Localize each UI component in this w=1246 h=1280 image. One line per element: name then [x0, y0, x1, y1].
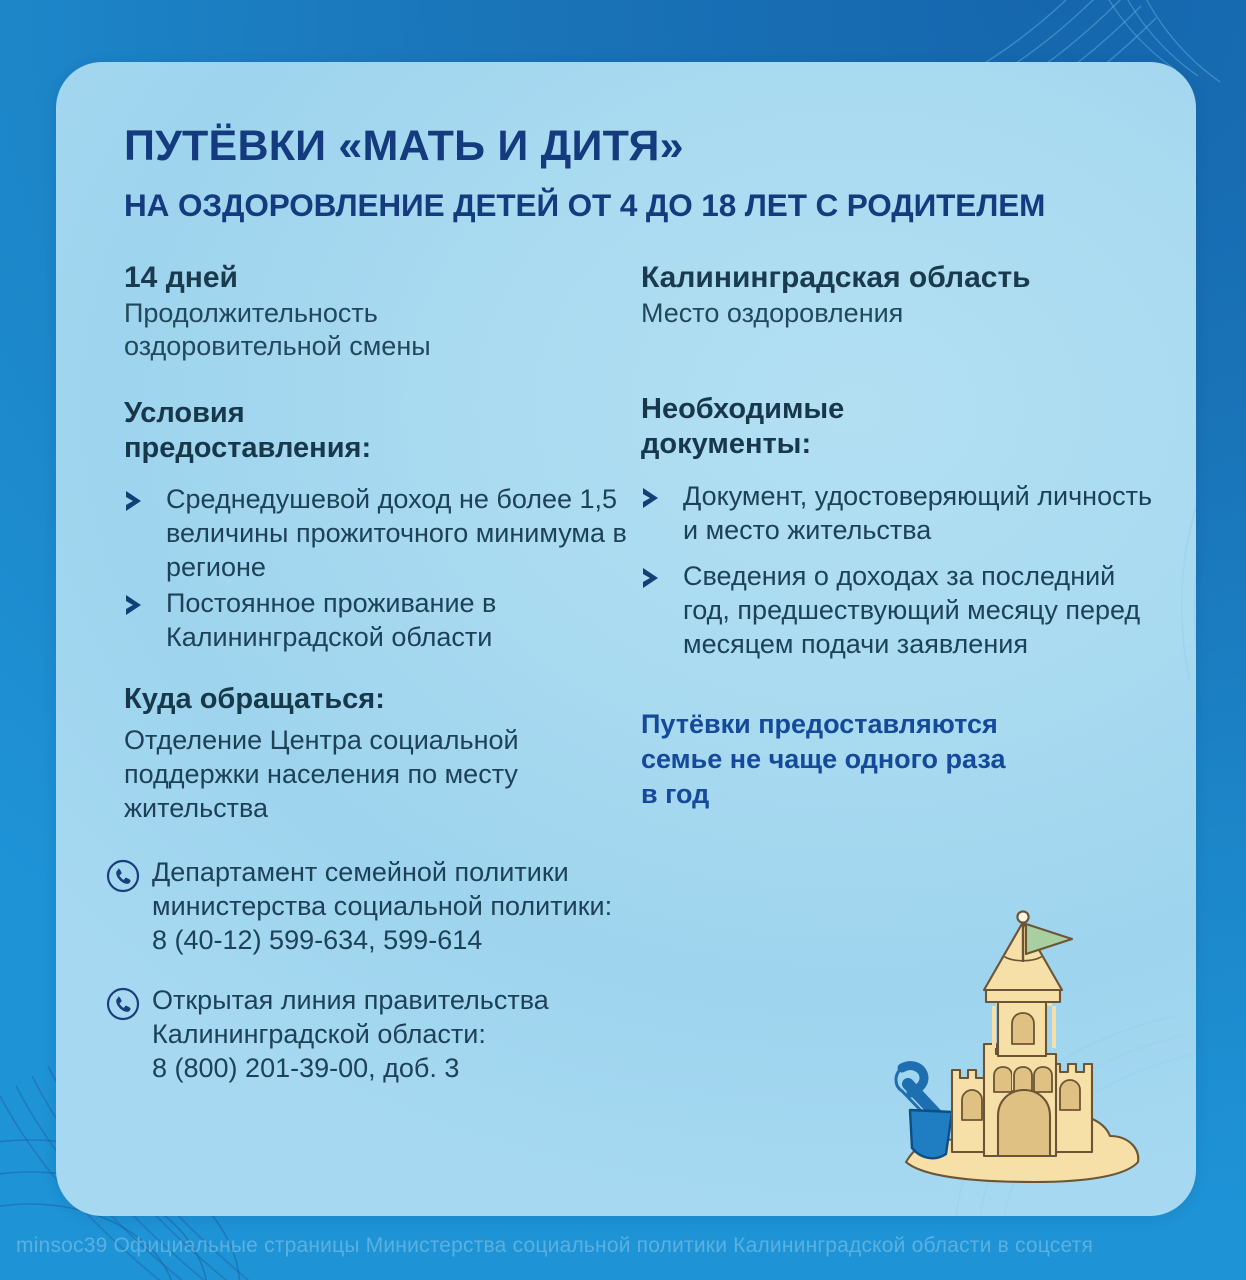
right-column: Калининградская область Место оздоровлен… — [641, 260, 1161, 811]
page-subtitle: НА ОЗДОРОВЛЕНИЕ ДЕТЕЙ ОТ 4 ДО 18 ЛЕТ С Р… — [124, 189, 1045, 222]
contact-hotline[interactable]: Открытая линия правительства Калининград… — [106, 983, 644, 1085]
note-line1: Путёвки предоставляются — [641, 707, 1161, 742]
contact-department-line2: министерства социальной политики: — [152, 889, 644, 923]
note-block: Путёвки предоставляются семье не чаще од… — [641, 707, 1161, 811]
documents-block: Необходимые документы: Документ, удостов… — [641, 392, 1161, 662]
where-to-apply-block: Куда обращаться: Отделение Центра социал… — [124, 682, 644, 825]
duration-label-line1: Продолжительность — [124, 297, 644, 329]
conditions-heading-line1: Условия — [124, 396, 644, 431]
sandcastle-illustration — [866, 904, 1166, 1194]
infographic-poster: ПУТЁВКИ «МАТЬ И ДИТЯ» НА ОЗДОРОВЛЕНИЕ ДЕ… — [0, 0, 1246, 1280]
phone-icon — [106, 859, 140, 893]
contact-hotline-line1: Открытая линия правительства — [152, 983, 644, 1017]
duration-value: 14 дней — [124, 260, 644, 295]
contact-department[interactable]: Департамент семейной политики министерст… — [106, 855, 644, 957]
where-to-apply-heading: Куда обращаться: — [124, 682, 644, 717]
list-item-label: Сведения о доходах за последний год, пре… — [683, 561, 1140, 659]
list-item-label: Документ, удостоверяющий личность и мест… — [683, 481, 1152, 545]
contact-department-line1: Департамент семейной политики — [152, 855, 644, 889]
where-to-apply-text: Отделение Центра социальной поддержки на… — [124, 723, 644, 825]
page-title: ПУТЁВКИ «МАТЬ И ДИТЯ» — [124, 124, 684, 169]
location-block: Калининградская область Место оздоровлен… — [641, 260, 1161, 330]
contact-hotline-line2: Калининградской области: — [152, 1017, 644, 1051]
documents-heading-line2: документы: — [641, 427, 1161, 462]
duration-block: 14 дней Продолжительность оздоровительно… — [124, 260, 644, 362]
chevron-right-icon — [124, 593, 152, 617]
list-item: Документ, удостоверяющий личность и мест… — [641, 479, 1161, 547]
list-item: Среднедушевой доход не более 1,5 величин… — [124, 482, 644, 584]
footer-text: minsoc39 Официальные страницы Министерст… — [16, 1234, 1093, 1258]
chevron-right-icon — [124, 489, 152, 513]
conditions-heading-line2: предоставления: — [124, 431, 644, 466]
note-line2: семье не чаще одного раза — [641, 742, 1161, 777]
phone-icon — [106, 987, 140, 1021]
list-item-label: Постоянное проживание в Калининградской … — [166, 588, 496, 652]
chevron-right-icon — [641, 486, 669, 510]
documents-list: Документ, удостоверяющий личность и мест… — [641, 479, 1161, 661]
list-item-label: Среднедушевой доход не более 1,5 величин… — [166, 484, 627, 582]
location-value: Калининградская область — [641, 260, 1161, 295]
left-column: 14 дней Продолжительность оздоровительно… — [124, 260, 644, 1085]
conditions-list: Среднедушевой доход не более 1,5 величин… — [124, 482, 644, 654]
list-item: Постоянное проживание в Калининградской … — [124, 586, 644, 654]
contact-department-phone[interactable]: 8 (40-12) 599-634, 599-614 — [152, 923, 644, 957]
content-card: ПУТЁВКИ «МАТЬ И ДИТЯ» НА ОЗДОРОВЛЕНИЕ ДЕ… — [56, 62, 1196, 1216]
sandcastle-icon — [866, 904, 1166, 1194]
documents-heading-line1: Необходимые — [641, 392, 1161, 427]
chevron-right-icon — [641, 566, 669, 590]
contact-hotline-phone[interactable]: 8 (800) 201-39-00, доб. 3 — [152, 1051, 644, 1085]
list-item: Сведения о доходах за последний год, пре… — [641, 559, 1161, 661]
footer-bar: minsoc39 Официальные страницы Министерст… — [0, 1216, 1246, 1280]
note-line3: в год — [641, 777, 1161, 812]
conditions-block: Условия предоставления: Среднедушевой до… — [124, 396, 644, 654]
duration-label-line2: оздоровительной смены — [124, 330, 644, 362]
location-label: Место оздоровления — [641, 297, 1161, 329]
